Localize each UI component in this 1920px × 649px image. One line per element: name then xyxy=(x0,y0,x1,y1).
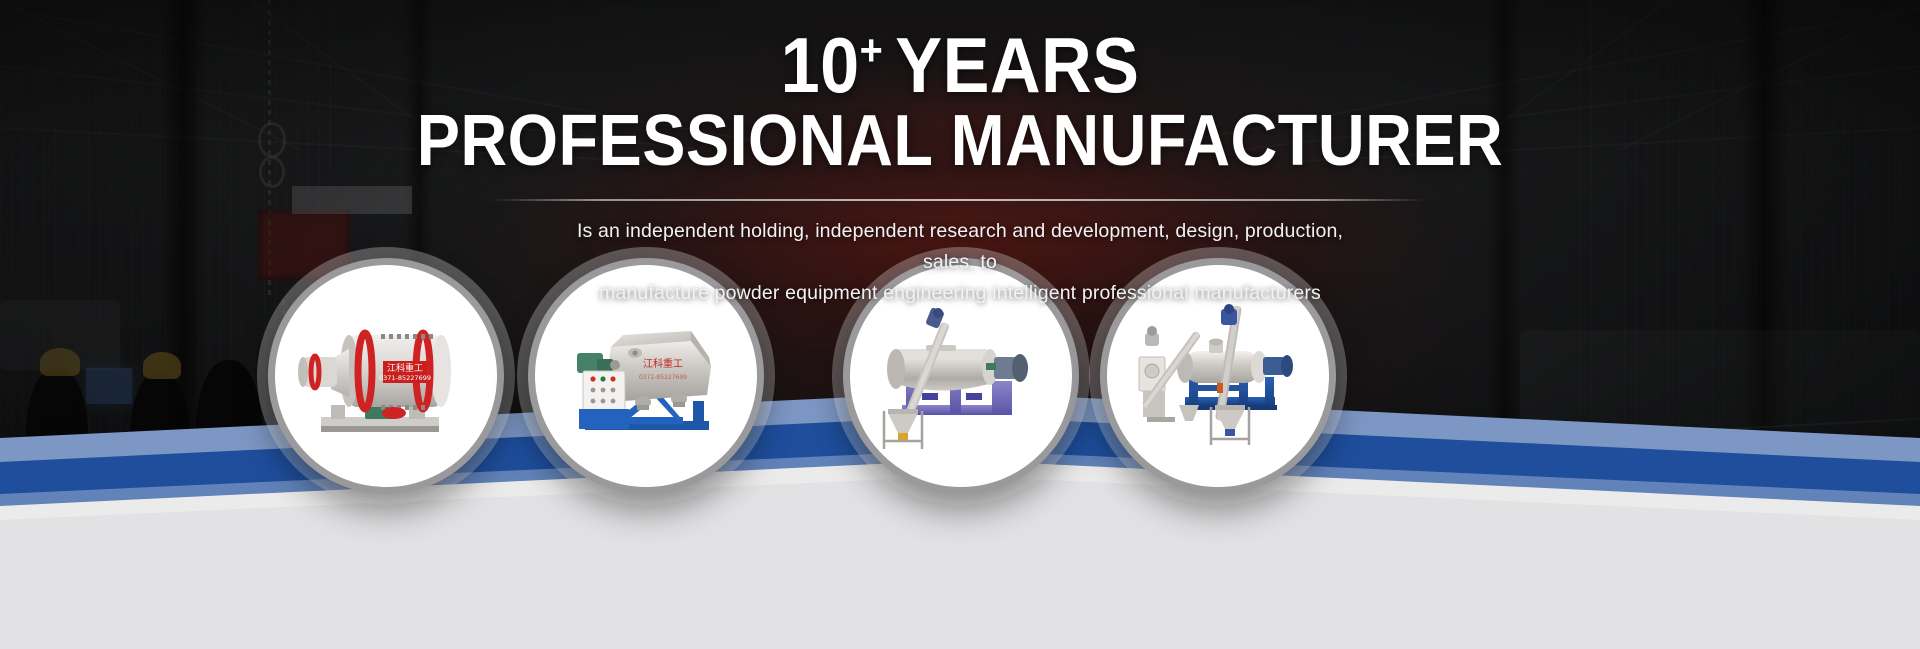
product-photo-4 xyxy=(1123,301,1313,451)
headline-divider xyxy=(490,199,1426,201)
rotary-drum-dryer-icon: 江科重工 0371-85227699 xyxy=(291,301,481,451)
product-phone-1: 0371-85227699 xyxy=(379,374,431,382)
years-number: 10 xyxy=(781,21,860,109)
headline-primary: 10+YEARS xyxy=(96,26,1824,104)
product-photo-1: 江科重工 0371-85227699 xyxy=(291,301,481,451)
subtitle-line-1: Is an independent holding, independent r… xyxy=(550,216,1370,278)
headline-secondary: PROFESSIONAL MANUFACTURER xyxy=(96,104,1824,178)
horizontal-ribbon-mixer-icon xyxy=(866,301,1056,451)
product-brand-1: 江科重工 xyxy=(387,362,423,374)
headline-block: 10+YEARS PROFESSIONAL MANUFACTURER xyxy=(0,26,1920,178)
product-brand-2: 江科重工 xyxy=(643,357,683,370)
subtitle-line-2: manufacture powder equipment engineering… xyxy=(550,278,1370,309)
hero-banner: 10+YEARS PROFESSIONAL MANUFACTURER Is an… xyxy=(0,0,1920,649)
product-photo-2: 江科重工 0371-85227699 xyxy=(551,301,741,451)
svg-text:0371-85227699: 0371-85227699 xyxy=(639,374,687,381)
subtitle-block: Is an independent holding, independent r… xyxy=(0,216,1920,309)
years-plus-superscript: + xyxy=(860,26,883,75)
product-photo-3 xyxy=(866,301,1056,451)
tilting-ribbon-mixer-icon: 江科重工 0371-85227699 xyxy=(551,301,741,451)
powder-production-line-icon xyxy=(1123,301,1313,451)
years-word: YEARS xyxy=(895,21,1139,109)
